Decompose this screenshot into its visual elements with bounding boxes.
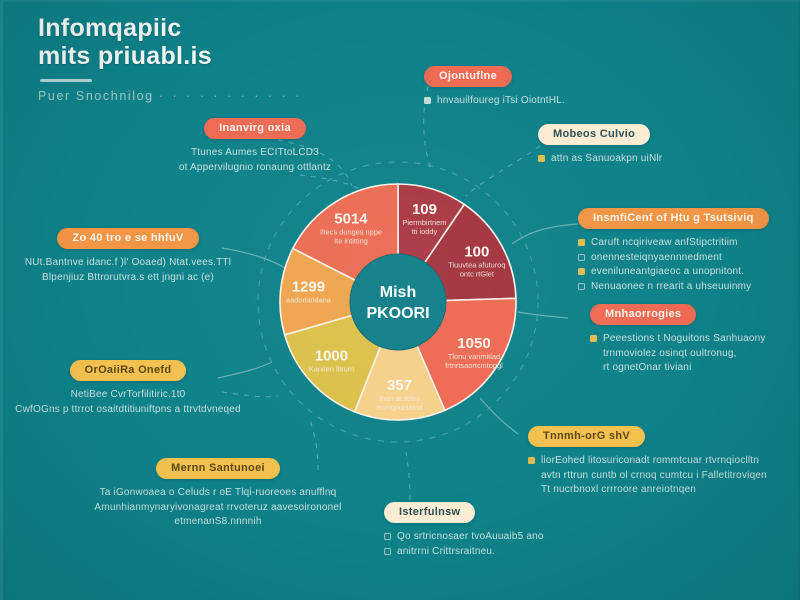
- callout-lines-right-mid-2: Peeestions t Noguitons Sanhuaony trnmovi…: [590, 332, 790, 376]
- callout-line-item: onennesteiqnyaennnedment: [578, 251, 794, 266]
- page-title-line-2: mits priuabl.is: [38, 42, 302, 70]
- callout-right-upper[interactable]: Mobeos Culvio attn as Sanuoakpn uiNlr: [538, 124, 788, 167]
- title-divider-rule: [40, 79, 92, 82]
- donut-hub: [350, 254, 446, 350]
- callout-top-left[interactable]: Inanvirg oxia Ttunes Aumes ECITtoLCD3 ot…: [150, 118, 360, 175]
- callout-line: NetiBee CvrTorfilitiric.1t0: [10, 388, 246, 403]
- donut-center-line-1: Mish: [380, 284, 416, 301]
- callout-line: ot Appervilugnio ronaung ottlantz: [150, 161, 360, 176]
- bullet-square-icon: [578, 283, 585, 290]
- callout-lines-right-lower: liorEohed litosuriconadt rommtcuar rtvrn…: [528, 454, 796, 498]
- callout-pill-left-upper[interactable]: Zo 40 tro e se hhfuV: [57, 228, 198, 249]
- callout-line: NUt.Bantnve idanc.f )l' Ooaed) Ntat.vees…: [12, 256, 244, 271]
- callout-line: Qo srtricnosaer tvoAuuaib5 ano: [397, 530, 544, 545]
- callout-pill-right-mid-2[interactable]: Mnhaorrogies: [590, 304, 696, 325]
- segment-value: 1299: [292, 279, 325, 296]
- segment-sublabel: Piermbirtnem: [402, 218, 446, 227]
- callout-line: liorEohed litosuriconadt rommtcuar rtvrn…: [541, 454, 759, 469]
- callout-lines-bottom-left: Ta iGonwoaea o Celuds r oE Tlqi-ruoreoes…: [88, 486, 348, 530]
- infographic-canvas: Infomqapiic mits priuabl.is Puer Snochni…: [0, 0, 800, 600]
- segment-value: 100: [464, 244, 489, 261]
- callout-line: eveniluneantgiaeoc a unopnitont.: [591, 265, 744, 280]
- segment-sublabel: frtnrtsaortcmtopgl: [445, 361, 503, 370]
- callout-pill-right-mid-1[interactable]: InsmfiCenf of Htu g Tsutsiviq: [578, 208, 769, 229]
- header: Infomqapiic mits priuabl.is Puer Snochni…: [38, 14, 302, 103]
- segment-sublabel: ontc rtGlet: [460, 270, 494, 279]
- callout-right-mid-1[interactable]: InsmfiCenf of Htu g Tsutsiviq Caruft ncq…: [578, 208, 794, 294]
- callout-line-item: Peeestions t Noguitons Sanhuaony: [590, 332, 790, 347]
- segment-sublabel: Tiuuvtea afuturoq: [448, 261, 505, 270]
- segment-value: 1050: [457, 335, 490, 352]
- callout-right-lower[interactable]: Tnnmh-orG shV liorEohed litosuriconadt r…: [528, 426, 796, 498]
- callout-pill-top-left[interactable]: Inanvirg oxia: [204, 118, 306, 139]
- callout-pill-bottom-left[interactable]: Mernn Santunoei: [156, 458, 280, 479]
- callout-line: anitrrni Crittrsraitneu.: [397, 545, 495, 560]
- callout-line-item: Caruft ncqiriveaw anfStipctritiim: [578, 236, 794, 251]
- callout-line: avtn rttrun cuntb ol crnoq cumtcu i Fall…: [528, 469, 796, 484]
- callout-pill-right-lower[interactable]: Tnnmh-orG shV: [528, 426, 645, 447]
- callout-line-item: eveniluneantgiaeoc a unopnitont.: [578, 265, 794, 280]
- bullet-square-icon: [384, 548, 391, 555]
- segment-sublabel: aadomiridana: [286, 296, 332, 305]
- callout-left-upper[interactable]: Zo 40 tro e se hhfuV NUt.Bantnve idanc.f…: [12, 228, 244, 285]
- bullet-square-icon: [578, 239, 585, 246]
- segment-sublabel: Kaniten lltrum: [309, 365, 354, 374]
- bullet-square-icon: [384, 533, 391, 540]
- bullet-square-icon: [578, 254, 585, 261]
- segment-sublabel: tti ioddy: [412, 227, 438, 236]
- page-subtitle-text: Puer Snochnilog: [38, 89, 154, 103]
- callout-line-item: anitrrni Crittrsraitneu.: [384, 545, 604, 560]
- callout-line: etmenanS8.nnnnih: [88, 515, 348, 530]
- subtitle-dots: · · · · · · · · · · ·: [159, 89, 303, 103]
- bullet-square-icon: [528, 457, 535, 464]
- segment-value: 5014: [334, 210, 368, 227]
- donut-chart: 109Piermbirtnemtti ioddy100Tiuuvtea afut…: [248, 152, 548, 452]
- leader-line-bottom-center: [406, 452, 410, 500]
- bullet-square-icon: [590, 335, 597, 342]
- callout-line: trnmoviolez osinqt oultronug,: [590, 347, 790, 362]
- segment-sublabel: Ite intitting: [334, 236, 368, 245]
- bullet-square-icon: [424, 97, 431, 104]
- callout-bottom-left[interactable]: Mernn Santunoei Ta iGonwoaea o Celuds r …: [88, 458, 348, 530]
- callout-line: Nenuaonee n rrearit a uhseuuinmy: [591, 280, 751, 295]
- callout-line: Ta iGonwoaea o Celuds r oE Tlqi-ruoreoes…: [88, 486, 348, 501]
- callout-lines-top-right: hnvauilfoureg iTsi OiotntHL.: [424, 94, 654, 109]
- callout-line-item: attn as Sanuoakpn uiNlr: [538, 152, 788, 167]
- segment-sublabel: ricrriqnuciaind: [376, 403, 422, 412]
- callout-pill-top-right[interactable]: Ojontuflne: [424, 66, 512, 87]
- callout-line: Blpenjiuz Bttrorutvra.s ett jngni ac (e): [12, 271, 244, 286]
- donut-center-line-2: PKOORI: [366, 305, 429, 322]
- callout-top-right[interactable]: Ojontuflne hnvauilfoureg iTsi OiotntHL.: [424, 66, 654, 109]
- callout-line-item: Qo srtricnosaer tvoAuuaib5 ano: [384, 530, 604, 545]
- callout-pill-left-lower[interactable]: OrOaiiRa Onefd: [70, 360, 187, 381]
- callout-line: onennesteiqnyaennnedment: [591, 251, 722, 266]
- page-subtitle: Puer Snochnilog · · · · · · · · · · ·: [38, 89, 302, 103]
- segment-sublabel: Iltecs dunges nppe: [320, 227, 382, 236]
- callout-lines-bottom-center: Qo srtricnosaer tvoAuuaib5 ano anitrrni …: [384, 530, 604, 559]
- callout-right-mid-2[interactable]: Mnhaorrogies Peeestions t Noguitons Sanh…: [590, 304, 790, 376]
- callout-lines-right-mid-1: Caruft ncqiriveaw anfStipctritiim onenne…: [578, 236, 794, 294]
- callout-pill-right-upper[interactable]: Mobeos Culvio: [538, 124, 650, 145]
- callout-line: CwfOGns p ttrrot osaitdtitiuniftpns a tt…: [10, 403, 246, 418]
- callout-line: Ttunes Aumes ECITtoLCD3: [150, 146, 360, 161]
- segment-sublabel: Tlonu vanmitlad: [448, 352, 500, 361]
- callout-line: attn as Sanuoakpn uiNlr: [551, 152, 662, 167]
- callout-lines-left-lower: NetiBee CvrTorfilitiric.1t0 CwfOGns p tt…: [10, 388, 246, 417]
- callout-line-item: liorEohed litosuriconadt rommtcuar rtvrn…: [528, 454, 796, 469]
- callout-line: Peeestions t Noguitons Sanhuaony: [603, 332, 766, 347]
- page-title-line-1: Infomqapiic: [38, 14, 302, 42]
- callout-line: Amunhianmynaryivonagreat rrvoteruz aaves…: [88, 501, 348, 516]
- callout-line-item: Nenuaonee n rrearit a uhseuuinmy: [578, 280, 794, 295]
- segment-value: 1000: [315, 348, 348, 365]
- callout-left-lower[interactable]: OrOaiiRa Onefd NetiBee CvrTorfilitiric.1…: [10, 360, 246, 417]
- callout-lines-right-upper: attn as Sanuoakpn uiNlr: [538, 152, 788, 167]
- bullet-square-icon: [578, 268, 585, 275]
- callout-pill-bottom-center[interactable]: Isterfulnsw: [384, 502, 475, 523]
- callout-bottom-center[interactable]: Isterfulnsw Qo srtricnosaer tvoAuuaib5 a…: [384, 502, 604, 559]
- bullet-square-icon: [538, 155, 545, 162]
- callout-line: Tt nucrbnoxl crrroore anreiotnqen: [528, 483, 796, 498]
- donut-chart-svg: 109Piermbirtnemtti ioddy100Tiuuvtea afut…: [248, 152, 548, 452]
- callout-lines-left-upper: NUt.Bantnve idanc.f )l' Ooaed) Ntat.vees…: [12, 256, 244, 285]
- segment-value: 109: [412, 201, 437, 218]
- callout-line: rt ognetOnar tiviani: [590, 361, 790, 376]
- segment-sublabel: Ihan acittilini: [379, 394, 420, 403]
- callout-line: Caruft ncqiriveaw anfStipctritiim: [591, 236, 738, 251]
- segment-value: 357: [387, 377, 412, 394]
- callout-line: hnvauilfoureg iTsi OiotntHL.: [437, 94, 565, 109]
- callout-lines-top-left: Ttunes Aumes ECITtoLCD3 ot Appervilugnio…: [150, 146, 360, 175]
- callout-line-item: hnvauilfoureg iTsi OiotntHL.: [424, 94, 654, 109]
